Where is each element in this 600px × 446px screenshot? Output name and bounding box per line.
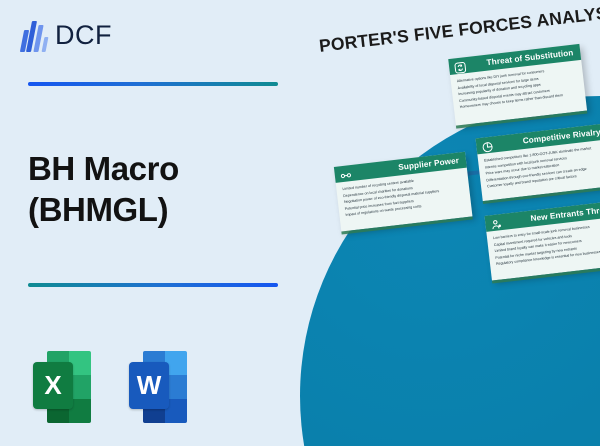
card-new-entrants-threat[interactable]: New Entrants Threat Low barriers to entr… xyxy=(484,201,600,281)
card-competitive-rivalry[interactable]: Competitive Rivalry Established competit… xyxy=(476,123,600,201)
pie-chart-icon xyxy=(480,139,496,155)
diagram-cards-group: Threat of Substitution Alternative optio… xyxy=(0,0,600,446)
recycle-refresh-icon xyxy=(453,60,469,76)
user-add-icon xyxy=(489,217,505,233)
link-chain-icon xyxy=(338,168,354,184)
card-threat-of-substitution[interactable]: Threat of Substitution Alternative optio… xyxy=(448,44,587,126)
slide-canvas: DCF BH Macro (BHMGL) X W PORTER'S FIVE F… xyxy=(0,0,600,446)
porters-five-forces-diagram: PORTER'S FIVE FORCES ANALYSIS Threat of … xyxy=(0,0,600,446)
card-supplier-power[interactable]: Supplier Power Limited number of recycli… xyxy=(334,152,473,232)
